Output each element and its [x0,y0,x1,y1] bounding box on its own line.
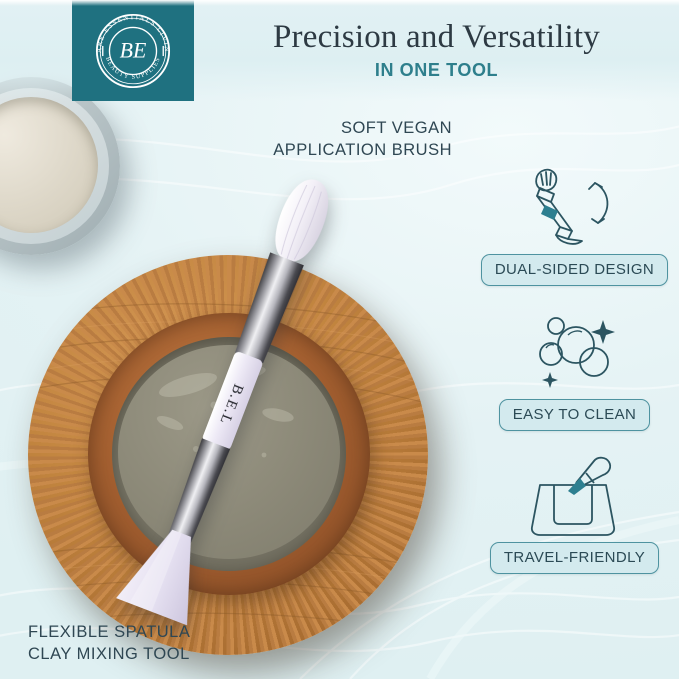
svg-text:BE: BE [120,38,147,62]
brand-logo-icon: BARE ESSENTIALS LIVING BEAUTY SUPPLIES B… [91,9,175,93]
brand-logo: BARE ESSENTIALS LIVING BEAUTY SUPPLIES B… [72,0,194,101]
feature-travel-friendly: TRAVEL-FRIENDLY [470,448,679,574]
product-photo: B.E.L [0,95,470,655]
callout-line-2: CLAY MIXING TOOL [28,644,288,666]
feature-badge-label[interactable]: DUAL-SIDED DESIGN [481,254,668,286]
bubbles-sparkle-icon [510,305,640,393]
callout-line-2: APPLICATION BRUSH [240,140,452,162]
callout-line-1: SOFT VEGAN [240,118,452,140]
clay-powder-texture [0,97,98,233]
header-title-group: Precision and Versatility IN ONE TOOL [194,0,679,101]
feature-dual-sided-design: DUAL-SIDED DESIGN [470,160,679,286]
feature-easy-to-clean: EASY TO CLEAN [470,305,679,431]
clay-powder-bowl [0,77,120,255]
feature-badge-label[interactable]: TRAVEL-FRIENDLY [490,542,659,574]
callout-soft-vegan-application-brush: SOFT VEGAN APPLICATION BRUSH [240,118,452,162]
callout-line-1: FLEXIBLE SPATULA [28,622,288,644]
infographic-canvas: B.E.L BARE ESSENTIALS LIVING [0,0,679,679]
callout-flexible-spatula-clay-mixing-tool: FLEXIBLE SPATULA CLAY MIXING TOOL [28,622,288,666]
page-subtitle: IN ONE TOOL [375,60,498,81]
page-title: Precision and Versatility [273,20,600,55]
feature-list: DUAL-SIDED DESIGN [470,160,679,605]
feature-badge-label[interactable]: EASY TO CLEAN [499,399,651,431]
cosmetic-bag-brush-icon [510,448,640,536]
dual-ended-brush-rotate-icon [510,160,640,248]
header-band: BARE ESSENTIALS LIVING BEAUTY SUPPLIES B… [0,0,679,101]
